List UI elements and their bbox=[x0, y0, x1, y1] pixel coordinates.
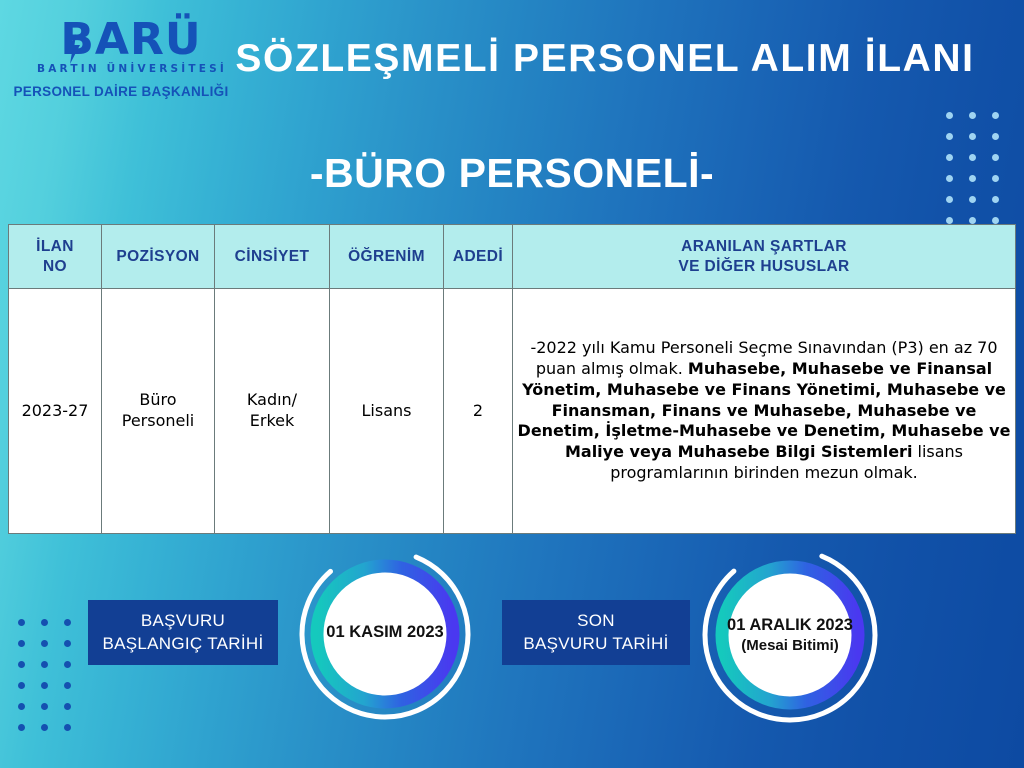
decorative-dot bbox=[18, 619, 25, 626]
column-header-cinsiyet: CİNSİYET bbox=[215, 225, 330, 289]
cell-cinsiyet: Kadın/ Erkek bbox=[215, 289, 330, 534]
cell-pozisyon-line2: Personeli bbox=[102, 411, 214, 432]
column-header-ogrenim: ÖĞRENİM bbox=[330, 225, 444, 289]
application-end-date-badge: 01 ARALIK 2023 (Mesai Bitimi) bbox=[700, 545, 880, 725]
cell-ogrenim: Lisans bbox=[330, 289, 444, 534]
decorative-dot bbox=[64, 661, 71, 668]
application-start-label-line2: BAŞLANGIÇ TARİHİ bbox=[103, 633, 264, 656]
decorative-dot bbox=[992, 133, 999, 140]
application-end-label-line1: SON bbox=[523, 610, 668, 633]
cell-cinsiyet-line1: Kadın/ bbox=[215, 390, 329, 411]
column-header-sartlar-line2: VE DİĞER HUSUSLAR bbox=[513, 257, 1015, 276]
decorative-dot bbox=[41, 640, 48, 647]
university-logo: BARÜ BARTIN ÜNİVERSİTESİ PERSONEL DAİRE … bbox=[8, 18, 238, 99]
decorative-dot bbox=[969, 133, 976, 140]
logo-department: PERSONEL DAİRE BAŞKANLIĞI bbox=[4, 84, 238, 99]
application-end-label: SON BAŞVURU TARİHİ bbox=[502, 600, 690, 665]
column-header-adedi: ADEDİ bbox=[444, 225, 513, 289]
table-header-row: İLAN NO POZİSYON CİNSİYET ÖĞRENİM ADEDİ … bbox=[9, 225, 1016, 289]
table-body: 2023-27 Büro Personeli Kadın/ Erkek Lisa… bbox=[9, 289, 1016, 534]
page-subtitle: -BÜRO PERSONELİ- bbox=[0, 150, 1024, 197]
cell-ilan-no: 2023-27 bbox=[9, 289, 102, 534]
decorative-dot bbox=[64, 724, 71, 731]
decorative-dot bbox=[18, 682, 25, 689]
application-start-label: BAŞVURU BAŞLANGIÇ TARİHİ bbox=[88, 600, 278, 665]
column-header-ilan-no-line2: NO bbox=[9, 257, 101, 276]
cell-pozisyon-line1: Büro bbox=[102, 390, 214, 411]
decorative-dot bbox=[969, 217, 976, 224]
cell-pozisyon: Büro Personeli bbox=[102, 289, 215, 534]
decorative-dot bbox=[41, 661, 48, 668]
ring-graphic-end bbox=[700, 545, 880, 725]
decorative-dot bbox=[64, 682, 71, 689]
column-header-pozisyon: POZİSYON bbox=[102, 225, 215, 289]
ring-graphic-start bbox=[295, 542, 475, 722]
cell-cinsiyet-line2: Erkek bbox=[215, 411, 329, 432]
decorative-dot bbox=[64, 640, 71, 647]
decorative-dot bbox=[64, 703, 71, 710]
decorative-dot bbox=[18, 724, 25, 731]
cell-adedi: 2 bbox=[444, 289, 513, 534]
decorative-dot bbox=[64, 619, 71, 626]
decorative-dot bbox=[946, 112, 953, 119]
decorative-dot bbox=[41, 724, 48, 731]
decorative-dot bbox=[41, 682, 48, 689]
column-header-sartlar: ARANILAN ŞARTLAR VE DİĞER HUSUSLAR bbox=[513, 225, 1016, 289]
lightning-bolt-icon bbox=[67, 34, 80, 64]
application-start-label-line1: BAŞVURU bbox=[103, 610, 264, 633]
page-title: SÖZLEŞMELİ PERSONEL ALIM İLANI bbox=[210, 38, 1000, 81]
logo-wordmark-text: BARÜ bbox=[60, 14, 201, 65]
announcement-table-wrapper: İLAN NO POZİSYON CİNSİYET ÖĞRENİM ADEDİ … bbox=[8, 224, 1016, 534]
poster-canvas: BARÜ BARTIN ÜNİVERSİTESİ PERSONEL DAİRE … bbox=[0, 0, 1024, 768]
column-header-ilan-no: İLAN NO bbox=[9, 225, 102, 289]
decorative-dot-grid-bottom-left bbox=[18, 619, 71, 731]
decorative-dot bbox=[18, 703, 25, 710]
column-header-ilan-no-line1: İLAN bbox=[9, 237, 101, 256]
decorative-dot bbox=[946, 196, 953, 203]
decorative-dot bbox=[41, 703, 48, 710]
decorative-dot bbox=[992, 112, 999, 119]
cell-aranilan-sartlar: -2022 yılı Kamu Personeli Seçme Sınavınd… bbox=[513, 289, 1016, 534]
application-start-date-badge: 01 KASIM 2023 bbox=[295, 542, 475, 722]
decorative-dot bbox=[969, 112, 976, 119]
decorative-dot bbox=[946, 217, 953, 224]
announcement-table: İLAN NO POZİSYON CİNSİYET ÖĞRENİM ADEDİ … bbox=[8, 224, 1016, 534]
decorative-dot bbox=[992, 196, 999, 203]
table-header: İLAN NO POZİSYON CİNSİYET ÖĞRENİM ADEDİ … bbox=[9, 225, 1016, 289]
decorative-dot bbox=[946, 133, 953, 140]
decorative-dot bbox=[18, 661, 25, 668]
table-row: 2023-27 Büro Personeli Kadın/ Erkek Lisa… bbox=[9, 289, 1016, 534]
decorative-dot bbox=[992, 217, 999, 224]
decorative-dot bbox=[969, 196, 976, 203]
decorative-dot bbox=[41, 619, 48, 626]
application-end-label-line2: BAŞVURU TARİHİ bbox=[523, 633, 668, 656]
logo-wordmark: BARÜ bbox=[24, 18, 238, 62]
column-header-sartlar-line1: ARANILAN ŞARTLAR bbox=[513, 237, 1015, 256]
decorative-dot bbox=[18, 640, 25, 647]
